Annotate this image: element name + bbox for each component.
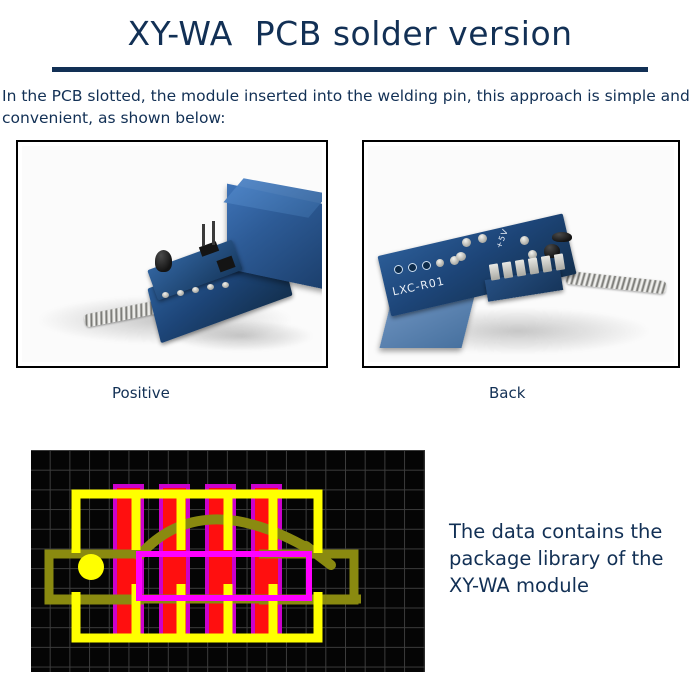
solder-joint: [436, 259, 444, 267]
pin1-marker-dot: [78, 554, 104, 580]
solder-pad: [222, 282, 229, 288]
photo-positive-caption: Positive: [112, 384, 170, 402]
antenna-spring: [566, 271, 667, 294]
photo-back: LXC-R01 +5V: [362, 140, 680, 368]
pcb-footprint-graphic: [31, 450, 425, 672]
diagram-note: The data contains the package library of…: [449, 518, 699, 599]
black-component: [155, 250, 172, 272]
solder-pad: [162, 292, 169, 298]
header-pin: [202, 224, 205, 246]
through-hole: [422, 261, 431, 270]
page-title: XY-WA PCB solder version: [0, 14, 700, 53]
solder-joint: [462, 238, 471, 247]
photo-back-canvas: LXC-R01 +5V: [368, 146, 674, 362]
solder-joint: [478, 234, 487, 243]
photo-positive: [16, 140, 328, 368]
solder-joint: [520, 236, 529, 245]
solder-pad: [177, 290, 184, 296]
solder-pad: [207, 284, 214, 290]
through-hole: [394, 265, 403, 274]
diagram-note-line: The data contains the: [449, 518, 699, 545]
intro-paragraph: In the PCB slotted, the module inserted …: [2, 85, 696, 129]
black-component: [552, 232, 572, 242]
through-hole: [408, 263, 417, 272]
diagram-note-line: package library of the: [449, 545, 699, 572]
diagram-note-line: XY-WA module: [449, 572, 699, 599]
title-divider: [52, 67, 648, 72]
header-pin: [212, 221, 215, 245]
photo-back-caption: Back: [489, 384, 525, 402]
photo-positive-canvas: [22, 146, 322, 362]
pcb-footprint-diagram: [31, 450, 425, 672]
solder-pad: [192, 287, 199, 293]
solder-joint: [456, 252, 466, 261]
